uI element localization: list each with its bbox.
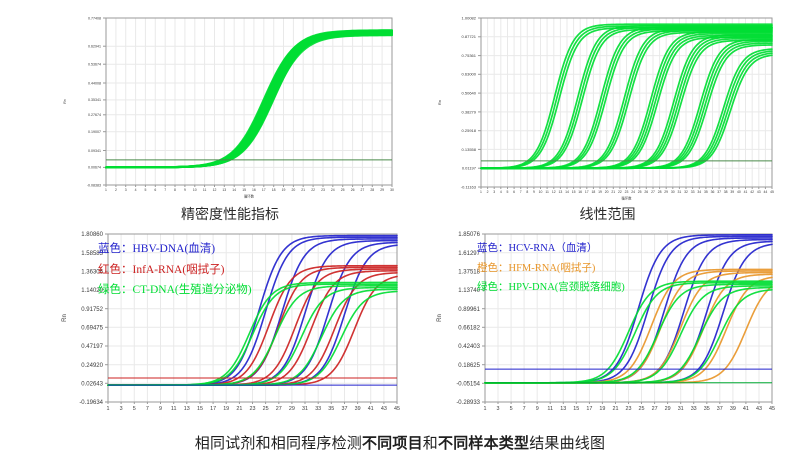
svg-text:29: 29	[665, 406, 671, 412]
legend-item-ct-dna: 绿色：CT-DNA(生殖道分泌物)	[98, 285, 252, 297]
svg-text:31: 31	[678, 190, 682, 194]
svg-text:35: 35	[328, 406, 334, 412]
svg-text:6: 6	[154, 188, 156, 192]
legend-item-hcv-rna: 蓝色：HCV-RNA（血清）	[477, 244, 625, 255]
legend-multi-target: 蓝色：HBV-DNA(血清)红色：InfA-RNA(咽拭子)绿色：CT-DNA(…	[98, 244, 252, 306]
svg-text:1.00082: 1.00082	[462, 15, 477, 20]
svg-text:30: 30	[390, 188, 394, 192]
svg-text:0.42403: 0.42403	[458, 344, 480, 350]
svg-text:42: 42	[750, 190, 754, 194]
svg-text:41: 41	[743, 406, 749, 412]
caption-emphasis: 不同样本类型	[438, 435, 529, 452]
svg-text:1.80860: 1.80860	[81, 232, 103, 238]
svg-text:10: 10	[539, 190, 543, 194]
svg-text:0.38279: 0.38279	[462, 109, 477, 114]
svg-text:39: 39	[355, 406, 361, 412]
svg-text:3: 3	[120, 406, 123, 412]
svg-text:21: 21	[611, 190, 615, 194]
svg-text:37: 37	[342, 406, 348, 412]
figure-bottom-caption: 相同试剂和相同程序检测不同项目和不同样本类型结果曲线图	[0, 432, 800, 453]
svg-text:8: 8	[174, 188, 176, 192]
caption-text: 和	[423, 435, 438, 452]
svg-text:17: 17	[586, 406, 592, 412]
svg-text:0.89961: 0.89961	[458, 307, 480, 313]
svg-text:0.75361: 0.75361	[462, 53, 477, 58]
svg-text:35: 35	[704, 190, 708, 194]
svg-text:-0.05154: -0.05154	[456, 381, 480, 387]
svg-text:4: 4	[500, 190, 502, 194]
svg-text:39: 39	[730, 406, 736, 412]
svg-text:1.85076: 1.85076	[458, 232, 480, 238]
svg-text:45: 45	[769, 406, 775, 412]
svg-text:4: 4	[135, 188, 137, 192]
svg-text:1: 1	[484, 406, 487, 412]
svg-text:10: 10	[193, 188, 197, 192]
svg-text:11: 11	[203, 188, 207, 192]
svg-text:0.25918: 0.25918	[462, 128, 477, 133]
svg-text:15: 15	[197, 406, 203, 412]
svg-text:3: 3	[125, 188, 127, 192]
panel-multi-target: 1.808601.585831.363061.140290.917520.694…	[60, 228, 405, 418]
svg-text:25: 25	[638, 190, 642, 194]
svg-text:37: 37	[717, 406, 723, 412]
svg-text:17: 17	[585, 190, 589, 194]
svg-text:43: 43	[381, 406, 387, 412]
svg-text:25: 25	[639, 406, 645, 412]
svg-text:33: 33	[691, 406, 697, 412]
svg-text:13: 13	[560, 406, 566, 412]
svg-text:13: 13	[559, 190, 563, 194]
svg-text:43: 43	[757, 190, 761, 194]
svg-text:19: 19	[599, 406, 605, 412]
svg-text:13: 13	[222, 188, 226, 192]
svg-text:2: 2	[487, 190, 489, 194]
svg-text:0.53674: 0.53674	[88, 63, 101, 67]
svg-text:45: 45	[770, 190, 774, 194]
svg-text:23: 23	[321, 188, 325, 192]
svg-text:18: 18	[592, 190, 596, 194]
svg-text:20: 20	[292, 188, 296, 192]
svg-text:-0.19634: -0.19634	[79, 400, 103, 406]
svg-text:41: 41	[744, 190, 748, 194]
svg-text:-0.08383: -0.08383	[87, 183, 101, 187]
svg-text:24: 24	[331, 188, 335, 192]
svg-text:11: 11	[171, 406, 177, 412]
svg-text:1: 1	[480, 190, 482, 194]
svg-text:9: 9	[159, 406, 162, 412]
svg-text:13: 13	[184, 406, 190, 412]
svg-text:0.66182: 0.66182	[458, 325, 480, 331]
svg-text:19: 19	[223, 406, 229, 412]
svg-text:12: 12	[552, 190, 556, 194]
svg-text:0.91752: 0.91752	[81, 307, 103, 313]
svg-text:27: 27	[361, 188, 365, 192]
svg-text:7: 7	[523, 406, 526, 412]
svg-text:0.19007: 0.19007	[88, 130, 101, 134]
svg-text:15: 15	[242, 188, 246, 192]
legend-item-hbv-dna: 蓝色：HBV-DNA(血清)	[98, 244, 252, 256]
svg-text:0.63000: 0.63000	[462, 72, 477, 77]
legend-item-hpv-dna: 绿色：HPV-DNA(宫颈脱落细胞)	[477, 283, 625, 294]
svg-text:7: 7	[520, 190, 522, 194]
svg-text:26: 26	[351, 188, 355, 192]
svg-text:Rn: Rn	[63, 99, 67, 104]
svg-text:0.24920: 0.24920	[81, 363, 103, 369]
svg-text:5: 5	[510, 406, 513, 412]
svg-text:17: 17	[262, 188, 266, 192]
svg-text:0.13558: 0.13558	[462, 147, 477, 152]
legend-multi-sample: 蓝色：HCV-RNA（血清）橙色：HFM-RNA(咽拭子)绿色：HPV-DNA(…	[477, 244, 625, 303]
svg-text:25: 25	[341, 188, 345, 192]
svg-text:30: 30	[671, 190, 675, 194]
svg-text:31: 31	[302, 406, 308, 412]
svg-text:9: 9	[536, 406, 539, 412]
svg-text:-0.11163: -0.11163	[461, 184, 477, 189]
svg-text:40: 40	[737, 190, 741, 194]
panel-multi-sample: 1.850761.612971.375181.137400.899610.661…	[435, 228, 780, 418]
svg-text:0.35341: 0.35341	[88, 98, 101, 102]
svg-text:44: 44	[764, 190, 768, 194]
caption-linearity: 线性范围	[435, 204, 780, 224]
svg-text:19: 19	[282, 188, 286, 192]
svg-text:38: 38	[724, 190, 728, 194]
svg-text:12: 12	[213, 188, 217, 192]
svg-text:16: 16	[578, 190, 582, 194]
svg-text:7: 7	[146, 406, 149, 412]
svg-text:Rn: Rn	[437, 100, 442, 105]
svg-text:29: 29	[289, 406, 295, 412]
svg-text:Rn: Rn	[437, 314, 443, 322]
svg-text:15: 15	[572, 190, 576, 194]
svg-text:2: 2	[115, 188, 117, 192]
svg-text:39: 39	[730, 190, 734, 194]
svg-text:0.77408: 0.77408	[88, 16, 101, 20]
caption-text: 结果曲线图	[529, 435, 605, 452]
svg-text:28: 28	[658, 190, 662, 194]
svg-text:5: 5	[144, 188, 146, 192]
svg-text:5: 5	[133, 406, 136, 412]
svg-text:26: 26	[644, 190, 648, 194]
svg-text:21: 21	[301, 188, 305, 192]
svg-text:19: 19	[598, 190, 602, 194]
svg-text:-0.28933: -0.28933	[456, 400, 480, 406]
svg-text:0.50640: 0.50640	[462, 91, 477, 96]
svg-text:5: 5	[507, 190, 509, 194]
svg-text:21: 21	[236, 406, 242, 412]
svg-text:0.09341: 0.09341	[88, 149, 101, 153]
svg-text:33: 33	[315, 406, 321, 412]
svg-text:0.47197: 0.47197	[81, 344, 103, 350]
legend-item-infa-rna: 红色：InfA-RNA(咽拭子)	[98, 265, 252, 277]
svg-text:33: 33	[691, 190, 695, 194]
svg-text:循环数: 循环数	[621, 195, 632, 200]
svg-text:32: 32	[684, 190, 688, 194]
svg-text:6: 6	[513, 190, 515, 194]
svg-text:1: 1	[105, 188, 107, 192]
svg-text:11: 11	[547, 406, 553, 412]
precision-chart-svg: 0.774080.629410.536740.440080.353410.276…	[60, 8, 400, 203]
svg-text:22: 22	[311, 188, 315, 192]
svg-text:18: 18	[272, 188, 276, 192]
svg-text:11: 11	[545, 190, 549, 194]
svg-text:22: 22	[618, 190, 622, 194]
svg-text:9: 9	[533, 190, 535, 194]
svg-text:31: 31	[678, 406, 684, 412]
svg-text:25: 25	[263, 406, 269, 412]
svg-text:15: 15	[573, 406, 579, 412]
svg-text:20: 20	[605, 190, 609, 194]
svg-text:Rn: Rn	[62, 314, 68, 322]
svg-text:27: 27	[652, 406, 658, 412]
svg-text:循环数: 循环数	[244, 193, 255, 198]
panel-linearity: 1.000820.877210.753610.630000.506400.382…	[435, 8, 780, 203]
svg-text:0.62941: 0.62941	[88, 44, 101, 48]
svg-text:23: 23	[625, 190, 629, 194]
svg-text:23: 23	[626, 406, 632, 412]
svg-text:34: 34	[697, 190, 701, 194]
svg-text:0.02643: 0.02643	[81, 381, 103, 387]
svg-text:41: 41	[368, 406, 374, 412]
caption-precision: 精密度性能指标	[60, 204, 400, 224]
svg-text:29: 29	[380, 188, 384, 192]
caption-text: 相同试剂和相同程序检测	[195, 435, 362, 452]
svg-text:14: 14	[565, 190, 569, 194]
legend-item-hfm-rna: 橙色：HFM-RNA(咽拭子)	[477, 264, 625, 275]
svg-text:9: 9	[184, 188, 186, 192]
svg-text:37: 37	[717, 190, 721, 194]
svg-text:29: 29	[664, 190, 668, 194]
svg-text:28: 28	[370, 188, 374, 192]
caption-emphasis: 不同项目	[362, 435, 423, 452]
svg-text:0.27674: 0.27674	[88, 113, 101, 117]
svg-text:14: 14	[232, 188, 236, 192]
svg-text:0.69475: 0.69475	[81, 325, 103, 331]
svg-text:27: 27	[651, 190, 655, 194]
svg-text:0.44008: 0.44008	[88, 81, 101, 85]
svg-text:16: 16	[252, 188, 256, 192]
svg-text:0.00674: 0.00674	[88, 166, 101, 170]
svg-text:24: 24	[631, 190, 635, 194]
svg-text:27: 27	[276, 406, 282, 412]
svg-text:0.01197: 0.01197	[462, 166, 477, 171]
svg-text:35: 35	[704, 406, 710, 412]
svg-text:0.18625: 0.18625	[458, 363, 480, 369]
svg-text:17: 17	[210, 406, 216, 412]
qpcr-results-figure: 0.774080.629410.536740.440080.353410.276…	[0, 0, 800, 470]
panel-precision: 0.774080.629410.536740.440080.353410.276…	[60, 8, 400, 203]
svg-text:3: 3	[497, 406, 500, 412]
svg-text:45: 45	[394, 406, 400, 412]
svg-text:23: 23	[250, 406, 256, 412]
svg-text:7: 7	[164, 188, 166, 192]
svg-text:1: 1	[107, 406, 110, 412]
svg-text:0.87721: 0.87721	[462, 34, 477, 39]
svg-text:36: 36	[711, 190, 715, 194]
svg-text:43: 43	[756, 406, 762, 412]
svg-text:21: 21	[613, 406, 619, 412]
linearity-chart-svg: 1.000820.877210.753610.630000.506400.382…	[435, 8, 780, 203]
svg-text:3: 3	[493, 190, 495, 194]
svg-text:8: 8	[526, 190, 528, 194]
